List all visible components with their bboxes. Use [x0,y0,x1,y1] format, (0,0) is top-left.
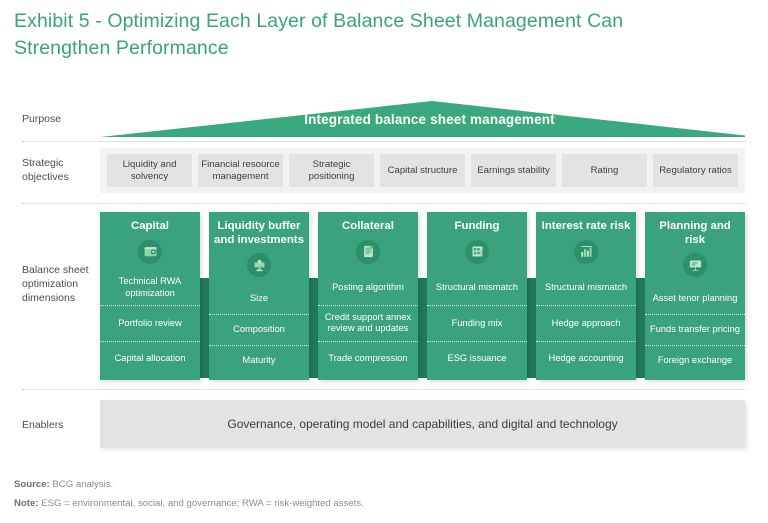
dimension-items-collateral: Posting algorithm Credit support annex r… [318,271,418,381]
objective-box-rating[interactable]: Rating [562,154,647,187]
dimension-column-interest-rate-risk[interactable]: Interest rate risk Structural mismatch H… [536,212,636,380]
dimension-title-funding: Funding [451,220,504,234]
row-label-purpose: Purpose [22,112,100,126]
dimension-title-collateral: Collateral [338,220,398,234]
document-icon [356,240,380,264]
objective-box-earnings-stability[interactable]: Earnings stability [471,154,556,187]
dimension-column-collateral[interactable]: Collateral Posting algorithm Credit supp… [318,212,418,380]
footnote-note: Note: ESG = environmental, social, and g… [14,498,364,509]
divider-dimensions-enablers [22,389,746,390]
dimension-title-planning-and-risk: Planning and risk [645,220,745,247]
dimensions-columns: Capital Technical RWA optimization Portf… [100,212,745,380]
purpose-banner: Integrated balance sheet management [100,101,745,137]
objective-box-strategic-positioning[interactable]: Strategic positioning [289,154,374,187]
dimension-item[interactable]: Size [209,284,309,314]
presentation-board-icon [683,253,707,277]
row-label-strategic-line-1: Strategic [22,156,100,170]
dimension-item[interactable]: ESG issuance [427,341,527,377]
row-label-dimensions-line-2: optimization [22,277,100,291]
dimension-item[interactable]: Trade compression [318,341,418,377]
wallet-icon [138,240,162,264]
purpose-banner-label: Integrated balance sheet management [100,101,745,137]
dimension-title-liquidity-buffer-and-investments: Liquidity buffer and investments [209,220,309,247]
dimension-item[interactable]: Funding mix [427,305,527,341]
objective-box-regulatory-ratios[interactable]: Regulatory ratios [653,154,738,187]
divider-strategic-dimensions [22,203,746,204]
dimension-item[interactable]: Posting algorithm [318,271,418,306]
dimension-title-capital: Capital [127,220,173,234]
bank-building-icon [465,240,489,264]
source-note: Source: BCG analysis. [14,479,113,490]
bar-chart-icon [574,240,598,264]
dimension-item[interactable]: Technical RWA optimization [100,271,200,306]
dimension-item[interactable]: Structural mismatch [536,271,636,306]
dimension-item[interactable]: Maturity [209,345,309,376]
enablers-label: Governance, operating model and capabili… [227,417,617,431]
dimension-item[interactable]: Hedge accounting [536,341,636,377]
dimension-item[interactable]: Funds transfer pricing [645,314,745,345]
dimension-item[interactable]: Portfolio review [100,305,200,341]
dimension-item[interactable]: Capital allocation [100,341,200,377]
source-label: Source: [14,479,50,490]
dimensions-area: Capital Technical RWA optimization Portf… [100,212,745,380]
piggy-bank-icon [247,253,271,277]
page-title: Exhibit 5 - Optimizing Each Layer of Bal… [14,8,714,62]
dimension-item[interactable]: Hedge approach [536,305,636,341]
row-label-dimensions-line-1: Balance sheet [22,263,100,277]
row-label-strategic-objectives: Strategic objectives [22,156,100,184]
objective-box-capital-structure[interactable]: Capital structure [380,154,465,187]
dimension-item[interactable]: Foreign exchange [645,345,745,376]
dimension-items-liquidity-buffer-and-investments: Size Composition Maturity [209,284,309,380]
dimension-column-capital[interactable]: Capital Technical RWA optimization Portf… [100,212,200,380]
dimension-item[interactable]: Structural mismatch [427,271,527,306]
dimension-items-capital: Technical RWA optimization Portfolio rev… [100,271,200,381]
row-label-dimensions: Balance sheet optimization dimensions [22,263,100,305]
strategic-objectives-band: Liquidity and solvency Financial resourc… [100,148,745,193]
enablers-band[interactable]: Governance, operating model and capabili… [100,400,745,448]
row-label-dimensions-line-3: dimensions [22,291,100,305]
dimension-items-interest-rate-risk: Structural mismatch Hedge approach Hedge… [536,271,636,381]
objective-box-financial-resource-management[interactable]: Financial resource management [198,154,283,187]
dimension-item[interactable]: Asset tenor planning [645,284,745,314]
note-text: ESG = environmental, social, and governa… [39,498,364,509]
row-label-strategic-line-2: objectives [22,170,100,184]
dimension-item[interactable]: Composition [209,314,309,345]
dimension-item[interactable]: Credit support annex review and updates [318,305,418,341]
row-label-enablers: Enablers [22,418,100,432]
dimension-column-planning-and-risk[interactable]: Planning and risk Asset tenor planning F… [645,212,745,380]
divider-purpose-strategic [22,141,746,142]
note-label: Note: [14,498,39,509]
dimension-items-planning-and-risk: Asset tenor planning Funds transfer pric… [645,284,745,380]
objective-box-liquidity-and-solvency[interactable]: Liquidity and solvency [107,154,192,187]
dimension-column-funding[interactable]: Funding Structural mismatch Funding mix … [427,212,527,380]
dimension-items-funding: Structural mismatch Funding mix ESG issu… [427,271,527,381]
source-text: BCG analysis. [50,479,113,490]
dimension-title-interest-rate-risk: Interest rate risk [538,220,635,234]
dimension-column-liquidity-buffer-and-investments[interactable]: Liquidity buffer and investments Size Co… [209,212,309,380]
